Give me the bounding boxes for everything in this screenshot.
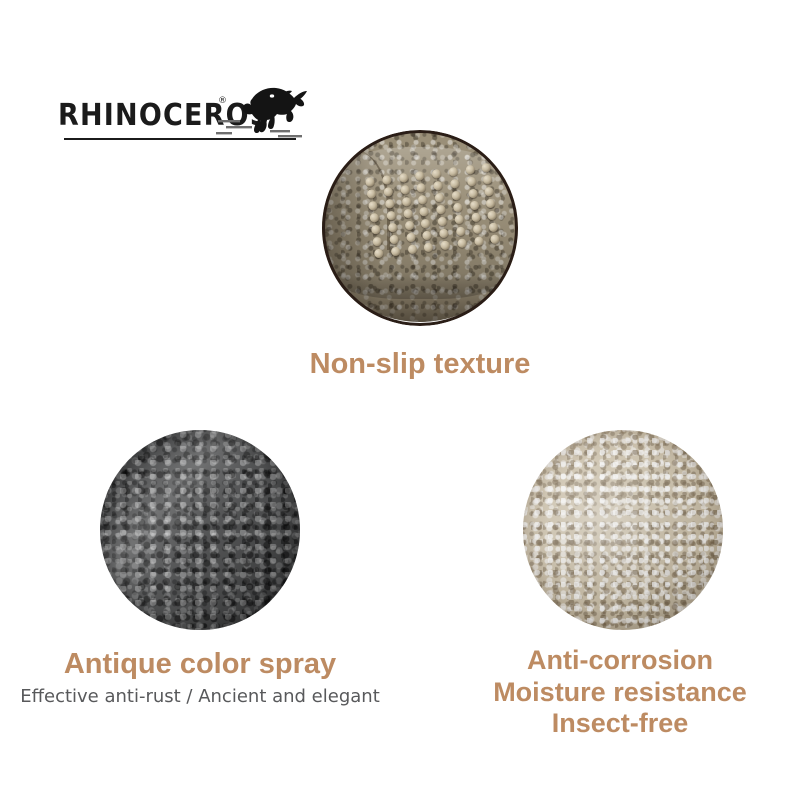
brand-underline <box>64 138 296 140</box>
non-slip-photo-image <box>322 132 518 322</box>
gray-vignette <box>100 430 300 630</box>
feature-title-anti-corrosion-line-1: Anti-corrosion <box>440 645 800 677</box>
feature-title-antique-color-spray: Antique color spray <box>10 648 390 680</box>
feature-subtitle-antique-color-spray: Effective anti-rust / Ancient and elegan… <box>10 687 390 707</box>
caption-antique-color-spray: Antique color spray Effective anti-rust … <box>10 648 390 708</box>
dark-gray-hammered-finish-swatch <box>100 430 300 630</box>
feature-title-anti-corrosion-line-3: Insect-free <box>440 708 800 740</box>
texture-bottom-shadow <box>322 273 518 322</box>
caption-anti-corrosion: Anti-corrosion Moisture resistance Insec… <box>440 645 800 740</box>
feature-title-non-slip: Non-slip texture <box>220 348 620 380</box>
non-slip-texture-photo <box>322 130 518 326</box>
beige-vignette <box>523 430 723 630</box>
feature-title-anti-corrosion-line-2: Moisture resistance <box>440 677 800 709</box>
brand-logo: RHINOCEROS ® <box>58 82 308 144</box>
product-feature-poster: RHINOCEROS ® <box>0 0 800 800</box>
anti-slip-bump-grid <box>365 163 503 284</box>
caption-non-slip: Non-slip texture <box>220 348 620 380</box>
beige-granite-finish-swatch <box>523 430 723 630</box>
rhinoceros-icon <box>216 82 308 140</box>
